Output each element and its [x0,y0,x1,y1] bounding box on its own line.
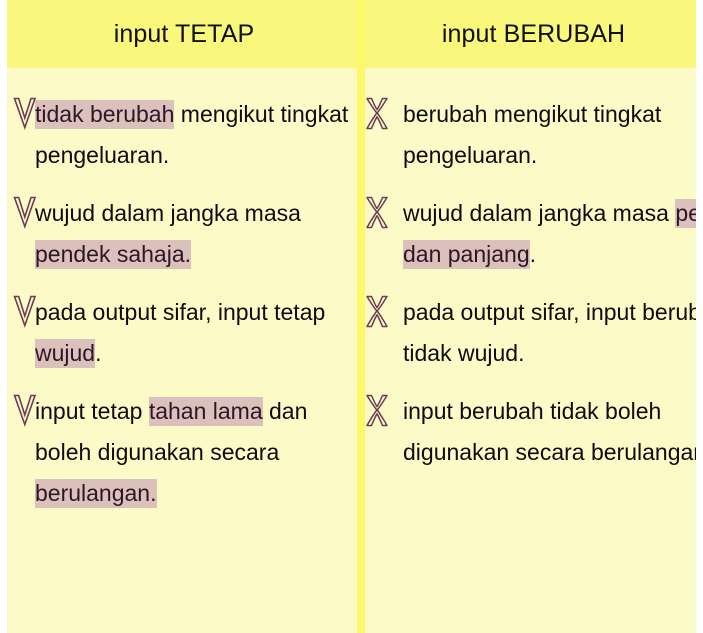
check-v-icon [12,394,38,428]
check-v-icon [12,97,38,131]
check-v-icon-svg [12,196,38,230]
bullet-text: pada output sifar, input berubah tidak w… [403,292,696,374]
highlighted-phrase: berulangan. [35,479,157,508]
bullet-item: wujud dalam jangka masa pendek sahaja. [7,193,357,275]
plain-phrase: wujud dalam jangka masa [35,200,307,226]
check-v-icon-svg [12,394,38,428]
column-divider [357,0,365,633]
cross-x-icon [364,97,390,131]
column-header-label: input BERUBAH [442,20,625,49]
check-v-icon [12,295,38,329]
bullet-item: tidak berubah mengikut tingkat pengeluar… [7,94,357,176]
bullet-text: wujud dalam jangka masa pendek sahaja. [35,193,357,275]
highlighted-phrase: tahan lama [149,397,263,426]
bullet-text: input tetap tahan lama dan boleh digunak… [35,391,357,514]
plain-phrase: input berubah tidak boleh digunakan seca… [403,398,696,465]
bullet-item: input tetap tahan lama dan boleh digunak… [7,391,357,514]
column-body-tetap: tidak berubah mengikut tingkat pengeluar… [7,68,357,633]
comparison-table: input TETAP tidak berubah mengikut tingk… [0,0,703,633]
plain-phrase: wujud dalam jangka masa [403,200,675,226]
column-header-label: input TETAP [114,20,255,49]
plain-phrase: . [95,340,101,366]
plain-phrase: input tetap [35,398,149,424]
check-v-icon-svg [12,97,38,131]
bullet-item: pada output sifar, input tetap wujud. [7,292,357,374]
column-header-berubah: input BERUBAH [357,0,696,68]
cross-x-icon [364,196,390,230]
check-v-icon [12,196,38,230]
column-header-tetap: input TETAP [7,0,357,68]
bullet-text: pada output sifar, input tetap wujud. [35,292,357,374]
column-input-tetap: input TETAP tidak berubah mengikut tingk… [7,0,357,633]
bullet-item: berubah mengikut tingkat pengeluaran. [357,94,696,176]
plain-phrase: pada output sifar, input tetap [35,299,332,325]
plain-phrase: . [530,241,536,267]
cross-x-icon [364,295,390,329]
cross-x-icon [364,394,390,428]
columns-container: input TETAP tidak berubah mengikut tingk… [7,0,696,633]
cross-x-icon-svg [364,295,390,329]
cross-x-icon-svg [364,196,390,230]
highlighted-phrase: wujud [35,339,95,368]
bullet-text: wujud dalam jangka masa pendek dan panja… [403,193,696,275]
bullet-text: input berubah tidak boleh digunakan seca… [403,391,696,473]
cross-x-icon-svg [364,394,390,428]
check-v-icon-svg [12,295,38,329]
plain-phrase: berubah mengikut tingkat pengeluaran. [403,101,668,168]
bullet-text: tidak berubah mengikut tingkat pengeluar… [35,94,357,176]
highlighted-phrase: pendek sahaja. [35,240,191,269]
bullet-item: pada output sifar, input berubah tidak w… [357,292,696,374]
bullet-item: input berubah tidak boleh digunakan seca… [357,391,696,473]
highlighted-phrase: tidak berubah [35,100,174,129]
plain-phrase: pada output sifar, input berubah tidak w… [403,299,696,366]
column-body-berubah: berubah mengikut tingkat pengeluaran.wuj… [357,68,696,633]
bullet-item: wujud dalam jangka masa pendek dan panja… [357,193,696,275]
bullet-text: berubah mengikut tingkat pengeluaran. [403,94,696,176]
column-input-berubah: input BERUBAH berubah mengikut tingkat p… [357,0,696,633]
cross-x-icon-svg [364,97,390,131]
